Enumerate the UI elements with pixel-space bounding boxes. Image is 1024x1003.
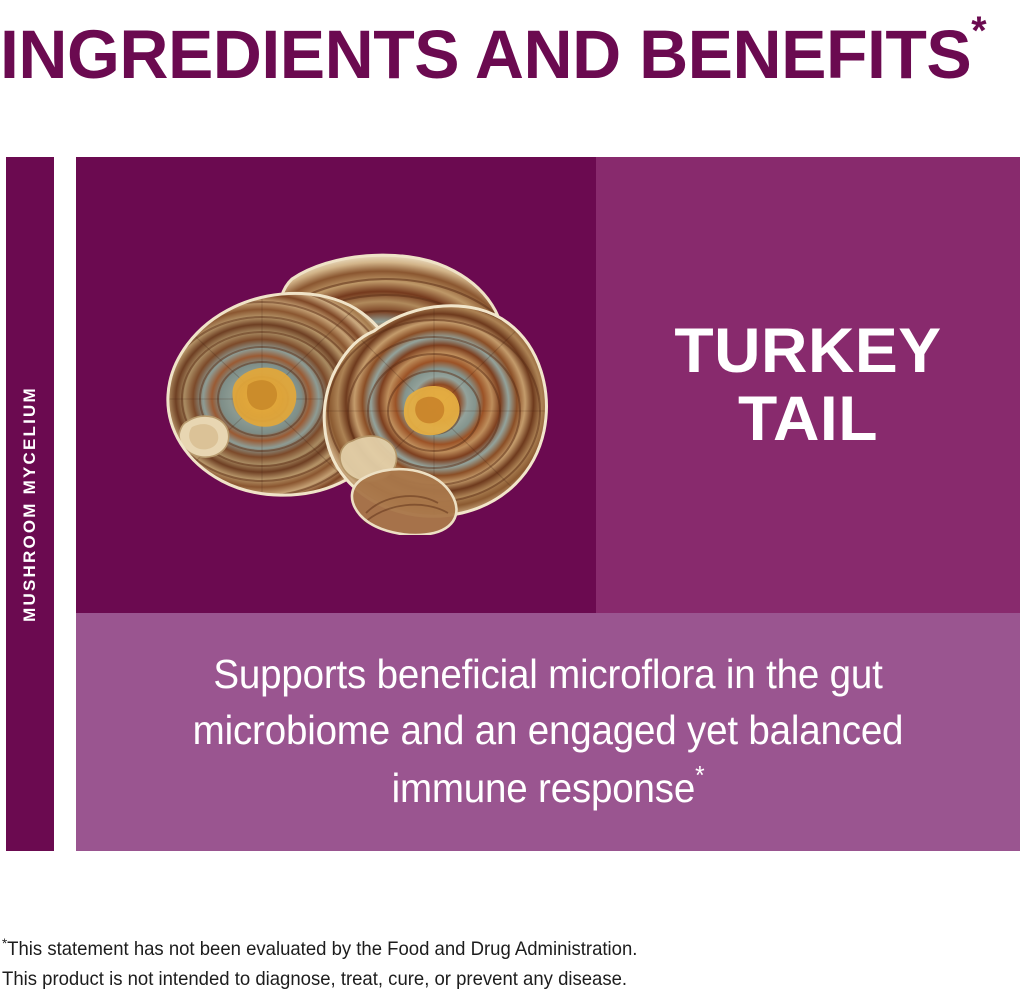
ingredient-name-panel: TURKEY TAIL [596, 157, 1020, 613]
benefit-panel: Supports beneficial microflora in the gu… [76, 613, 1020, 851]
footer-disclaimer-text: This statement has not been evaluated by… [2, 938, 637, 990]
benefit-asterisk: * [695, 760, 704, 790]
category-strip: MUSHROOM MYCELIUM [6, 157, 54, 851]
ingredient-card: TURKEY TAIL Supports beneficial microflo… [76, 157, 1020, 851]
page-title-asterisk: * [971, 9, 986, 53]
benefit-text-body: Supports beneficial microflora in the gu… [193, 651, 904, 812]
turkey-tail-mushroom-icon [116, 235, 556, 535]
ingredient-image-panel [76, 157, 596, 613]
page-title-text: INGREDIENTS AND BENEFITS [0, 16, 971, 93]
category-strip-label: MUSHROOM MYCELIUM [20, 386, 40, 622]
benefit-text: Supports beneficial microflora in the gu… [158, 647, 938, 817]
ingredient-name: TURKEY TAIL [674, 317, 941, 453]
footer-disclaimer: *This statement has not been evaluated b… [2, 928, 857, 994]
page-title: INGREDIENTS AND BENEFITS* [0, 0, 1009, 71]
card-top-row: TURKEY TAIL [76, 157, 1020, 613]
